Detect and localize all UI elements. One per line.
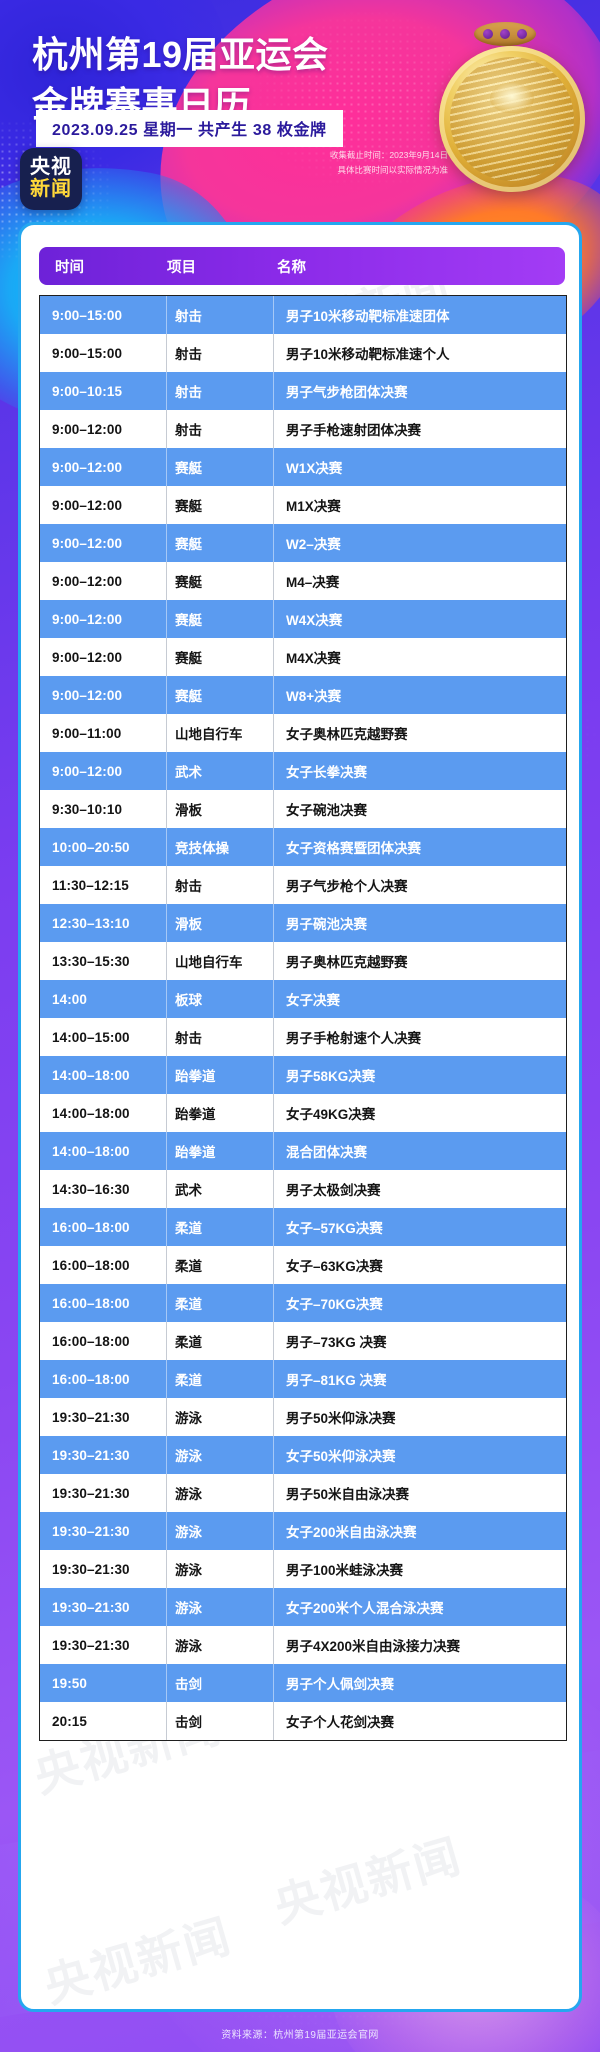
table-row: 16:00–18:00柔道女子–57KG决赛 — [40, 1208, 566, 1246]
schedule-card: 央视新闻 央视新闻 央视新闻 央视新闻 央视新闻 央视新闻 央视新闻 央视新闻 … — [18, 222, 582, 2012]
cell-time: 9:00–15:00 — [40, 346, 166, 361]
cell-sport: 游泳 — [166, 1588, 274, 1626]
medal-disc — [439, 46, 585, 192]
cell-event-name: 男子10米移动靶标准速团体 — [274, 305, 566, 325]
cell-event-name: 男子4X200米自由泳接力决赛 — [274, 1635, 566, 1655]
cell-sport: 柔道 — [166, 1246, 274, 1284]
cell-time: 9:30–10:10 — [40, 802, 166, 817]
table-row: 9:00–12:00射击男子手枪速射团体决赛 — [40, 410, 566, 448]
cell-time: 14:30–16:30 — [40, 1182, 166, 1197]
cell-time: 13:30–15:30 — [40, 954, 166, 969]
table-row: 14:00–18:00跆拳道女子49KG决赛 — [40, 1094, 566, 1132]
cctv-news-logo: 央视 新闻 — [20, 148, 82, 210]
cell-event-name: 男子气步枪个人决赛 — [274, 875, 566, 895]
watermark: 央视新闻 — [36, 1900, 239, 2012]
cell-time: 9:00–10:15 — [40, 384, 166, 399]
gold-medal-icon — [426, 22, 586, 212]
table-row: 19:30–21:30游泳男子4X200米自由泳接力决赛 — [40, 1626, 566, 1664]
cell-sport: 赛艇 — [166, 448, 274, 486]
cell-sport: 赛艇 — [166, 638, 274, 676]
table-row: 19:30–21:30游泳男子50米仰泳决赛 — [40, 1398, 566, 1436]
cell-time: 11:30–12:15 — [40, 878, 166, 893]
cell-time: 16:00–18:00 — [40, 1220, 166, 1235]
cell-time: 16:00–18:00 — [40, 1258, 166, 1273]
medal-face — [450, 57, 574, 181]
cell-sport: 山地自行车 — [166, 942, 274, 980]
table-row: 9:00–11:00山地自行车女子奥林匹克越野赛 — [40, 714, 566, 752]
cell-sport: 竞技体操 — [166, 828, 274, 866]
cell-event-name: M1X决赛 — [274, 495, 566, 515]
table-row: 19:30–21:30游泳女子200米自由泳决赛 — [40, 1512, 566, 1550]
table-row: 9:00–12:00赛艇W2–决赛 — [40, 524, 566, 562]
table-row: 19:30–21:30游泳女子200米个人混合泳决赛 — [40, 1588, 566, 1626]
table-row: 9:00–15:00射击男子10米移动靶标准速团体 — [40, 296, 566, 334]
cell-time: 19:50 — [40, 1676, 166, 1691]
cell-event-name: 女子决赛 — [274, 989, 566, 1009]
cell-sport: 击剑 — [166, 1702, 274, 1740]
cell-sport: 射击 — [166, 1018, 274, 1056]
cell-time: 19:30–21:30 — [40, 1524, 166, 1539]
poster-header: 杭州第19届亚运会 金牌赛事日历 2023.09.25 星期一 共产生 38 枚… — [0, 0, 600, 232]
cell-sport: 武术 — [166, 1170, 274, 1208]
cell-event-name: W2–决赛 — [274, 533, 566, 553]
cell-sport: 游泳 — [166, 1398, 274, 1436]
cell-event-name: 女子49KG决赛 — [274, 1103, 566, 1123]
cell-time: 9:00–12:00 — [40, 764, 166, 779]
table-row: 16:00–18:00柔道男子–81KG 决赛 — [40, 1360, 566, 1398]
table-row: 14:00–18:00跆拳道混合团体决赛 — [40, 1132, 566, 1170]
cell-sport: 滑板 — [166, 904, 274, 942]
cell-time: 9:00–12:00 — [40, 612, 166, 627]
cell-event-name: 男子奥林匹克越野赛 — [274, 951, 566, 971]
cell-event-name: 男子手枪射速个人决赛 — [274, 1027, 566, 1047]
cell-sport: 游泳 — [166, 1550, 274, 1588]
cell-time: 19:30–21:30 — [40, 1600, 166, 1615]
cell-event-name: 男子58KG决赛 — [274, 1065, 566, 1085]
cell-event-name: 女子–70KG决赛 — [274, 1293, 566, 1313]
table-row: 14:00–15:00射击男子手枪射速个人决赛 — [40, 1018, 566, 1056]
table-row: 9:00–12:00赛艇W4X决赛 — [40, 600, 566, 638]
table-row: 9:00–12:00武术女子长拳决赛 — [40, 752, 566, 790]
table-row: 9:00–15:00射击男子10米移动靶标准速个人 — [40, 334, 566, 372]
cell-time: 20:15 — [40, 1714, 166, 1729]
cell-event-name: 女子50米仰泳决赛 — [274, 1445, 566, 1465]
cell-sport: 赛艇 — [166, 676, 274, 714]
cell-event-name: W8+决赛 — [274, 685, 566, 705]
column-header-name: 名称 — [277, 256, 565, 277]
cell-event-name: 男子太极剑决赛 — [274, 1179, 566, 1199]
cell-event-name: W1X决赛 — [274, 457, 566, 477]
cell-sport: 射击 — [166, 410, 274, 448]
table-row: 9:00–12:00赛艇M4–决赛 — [40, 562, 566, 600]
watermark: 央视新闻 — [266, 1820, 469, 1936]
cell-sport: 跆拳道 — [166, 1132, 274, 1170]
cell-sport: 柔道 — [166, 1284, 274, 1322]
table-row: 10:00–20:50竞技体操女子资格赛暨团体决赛 — [40, 828, 566, 866]
ribbon-gem-2 — [500, 29, 510, 39]
cell-time: 19:30–21:30 — [40, 1486, 166, 1501]
table-row: 9:00–12:00赛艇W8+决赛 — [40, 676, 566, 714]
cell-sport: 跆拳道 — [166, 1094, 274, 1132]
cell-sport: 射击 — [166, 334, 274, 372]
cell-time: 16:00–18:00 — [40, 1334, 166, 1349]
cell-time: 16:00–18:00 — [40, 1372, 166, 1387]
table-row: 9:30–10:10滑板女子碗池决赛 — [40, 790, 566, 828]
cell-time: 9:00–12:00 — [40, 498, 166, 513]
table-row: 14:30–16:30武术男子太极剑决赛 — [40, 1170, 566, 1208]
table-row: 9:00–10:15射击男子气步枪团体决赛 — [40, 372, 566, 410]
table-row: 9:00–12:00赛艇M4X决赛 — [40, 638, 566, 676]
cell-event-name: W4X决赛 — [274, 609, 566, 629]
cell-time: 9:00–12:00 — [40, 422, 166, 437]
table-row: 19:30–21:30游泳男子50米自由泳决赛 — [40, 1474, 566, 1512]
cell-time: 14:00–15:00 — [40, 1030, 166, 1045]
ribbon-gem-1 — [483, 29, 493, 39]
cell-event-name: 男子碗池决赛 — [274, 913, 566, 933]
table-row: 13:30–15:30山地自行车男子奥林匹克越野赛 — [40, 942, 566, 980]
cell-sport: 射击 — [166, 372, 274, 410]
cell-event-name: 女子200米自由泳决赛 — [274, 1521, 566, 1541]
cell-event-name: 男子个人佩剑决赛 — [274, 1673, 566, 1693]
ribbon-gem-3 — [517, 29, 527, 39]
cell-sport: 游泳 — [166, 1626, 274, 1664]
cell-event-name: 男子手枪速射团体决赛 — [274, 419, 566, 439]
table-row: 12:30–13:10滑板男子碗池决赛 — [40, 904, 566, 942]
cell-sport: 赛艇 — [166, 562, 274, 600]
cell-time: 14:00–18:00 — [40, 1144, 166, 1159]
table-row: 19:30–21:30游泳男子100米蛙泳决赛 — [40, 1550, 566, 1588]
cell-sport: 赛艇 — [166, 486, 274, 524]
logo-text-top: 央视 — [30, 157, 72, 179]
cell-time: 14:00–18:00 — [40, 1068, 166, 1083]
cell-sport: 射击 — [166, 296, 274, 334]
medal-emblem — [490, 83, 534, 113]
table-row: 16:00–18:00柔道男子–73KG 决赛 — [40, 1322, 566, 1360]
cell-event-name: 女子–63KG决赛 — [274, 1255, 566, 1275]
table-header: 时间 项目 名称 — [39, 247, 565, 285]
cell-event-name: 女子碗池决赛 — [274, 799, 566, 819]
cell-time: 9:00–15:00 — [40, 308, 166, 323]
cell-sport: 游泳 — [166, 1474, 274, 1512]
cell-event-name: 女子–57KG决赛 — [274, 1217, 566, 1237]
cell-sport: 山地自行车 — [166, 714, 274, 752]
schedule-table: 9:00–15:00射击男子10米移动靶标准速团体9:00–15:00射击男子1… — [39, 295, 567, 1741]
cell-event-name: M4X决赛 — [274, 647, 566, 667]
cell-sport: 板球 — [166, 980, 274, 1018]
cell-time: 12:30–13:10 — [40, 916, 166, 931]
cell-time: 16:00–18:00 — [40, 1296, 166, 1311]
table-row: 20:15击剑女子个人花剑决赛 — [40, 1702, 566, 1740]
table-row: 19:30–21:30游泳女子50米仰泳决赛 — [40, 1436, 566, 1474]
cell-time: 14:00 — [40, 992, 166, 1007]
cell-sport: 柔道 — [166, 1360, 274, 1398]
poster-root: 杭州第19届亚运会 金牌赛事日历 2023.09.25 星期一 共产生 38 枚… — [0, 0, 600, 2052]
cell-time: 9:00–12:00 — [40, 688, 166, 703]
cell-time: 9:00–12:00 — [40, 574, 166, 589]
column-header-sport: 项目 — [167, 256, 277, 277]
cell-event-name: 女子资格赛暨团体决赛 — [274, 837, 566, 857]
cell-sport: 柔道 — [166, 1322, 274, 1360]
medal-ribbon — [474, 22, 536, 46]
cell-time: 9:00–11:00 — [40, 726, 166, 741]
table-row: 16:00–18:00柔道女子–63KG决赛 — [40, 1246, 566, 1284]
source-footnote: 资料来源：杭州第19届亚运会官网 — [0, 2026, 600, 2041]
cell-sport: 跆拳道 — [166, 1056, 274, 1094]
cell-event-name: 男子50米仰泳决赛 — [274, 1407, 566, 1427]
table-row: 9:00–12:00赛艇M1X决赛 — [40, 486, 566, 524]
cell-time: 9:00–12:00 — [40, 650, 166, 665]
logo-text-bottom: 新闻 — [30, 179, 72, 201]
table-row: 16:00–18:00柔道女子–70KG决赛 — [40, 1284, 566, 1322]
cell-event-name: 男子100米蛙泳决赛 — [274, 1559, 566, 1579]
cell-event-name: 女子个人花剑决赛 — [274, 1711, 566, 1731]
cell-sport: 游泳 — [166, 1512, 274, 1550]
cell-time: 10:00–20:50 — [40, 840, 166, 855]
title-line-1: 杭州第19届亚运会 — [32, 34, 329, 75]
cell-sport: 击剑 — [166, 1664, 274, 1702]
cell-sport: 滑板 — [166, 790, 274, 828]
cell-sport: 射击 — [166, 866, 274, 904]
cell-time: 19:30–21:30 — [40, 1410, 166, 1425]
cell-event-name: 女子长拳决赛 — [274, 761, 566, 781]
column-header-time: 时间 — [39, 256, 167, 277]
cell-time: 19:30–21:30 — [40, 1448, 166, 1463]
cell-time: 19:30–21:30 — [40, 1638, 166, 1653]
cell-time: 19:30–21:30 — [40, 1562, 166, 1577]
cell-event-name: 男子10米移动靶标准速个人 — [274, 343, 566, 363]
cell-sport: 游泳 — [166, 1436, 274, 1474]
cell-event-name: 混合团体决赛 — [274, 1141, 566, 1161]
cell-sport: 赛艇 — [166, 524, 274, 562]
cell-sport: 赛艇 — [166, 600, 274, 638]
date-summary-chip: 2023.09.25 星期一 共产生 38 枚金牌 — [36, 110, 343, 147]
cell-event-name: 女子200米个人混合泳决赛 — [274, 1597, 566, 1617]
cell-sport: 柔道 — [166, 1208, 274, 1246]
cell-sport: 武术 — [166, 752, 274, 790]
cell-event-name: 女子奥林匹克越野赛 — [274, 723, 566, 743]
table-row: 11:30–12:15射击男子气步枪个人决赛 — [40, 866, 566, 904]
table-row: 14:00–18:00跆拳道男子58KG决赛 — [40, 1056, 566, 1094]
cell-event-name: 男子–73KG 决赛 — [274, 1331, 566, 1351]
cell-event-name: 男子–81KG 决赛 — [274, 1369, 566, 1389]
cell-event-name: 男子50米自由泳决赛 — [274, 1483, 566, 1503]
cell-time: 9:00–12:00 — [40, 460, 166, 475]
cell-event-name: M4–决赛 — [274, 571, 566, 591]
cell-time: 9:00–12:00 — [40, 536, 166, 551]
table-row: 14:00板球女子决赛 — [40, 980, 566, 1018]
cell-event-name: 男子气步枪团体决赛 — [274, 381, 566, 401]
table-row: 19:50击剑男子个人佩剑决赛 — [40, 1664, 566, 1702]
cell-time: 14:00–18:00 — [40, 1106, 166, 1121]
table-row: 9:00–12:00赛艇W1X决赛 — [40, 448, 566, 486]
